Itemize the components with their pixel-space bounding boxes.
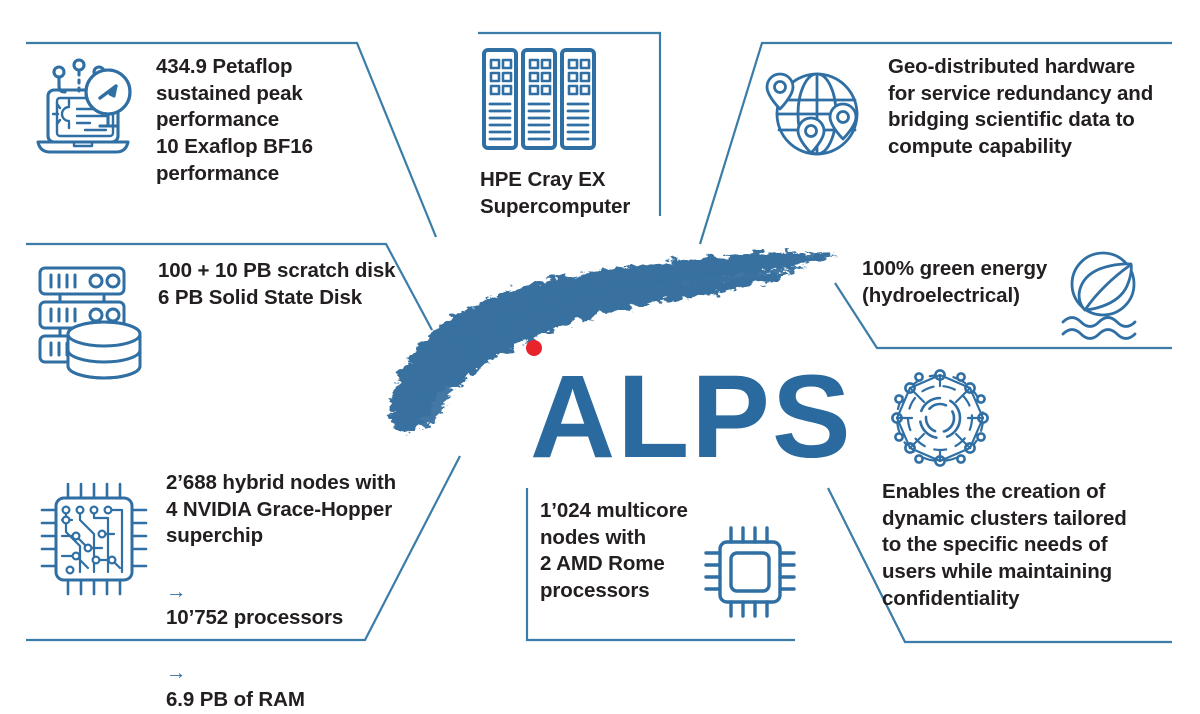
network-cluster-icon xyxy=(888,368,992,473)
green-energy-text: 100% green energy (hydroelectrical) xyxy=(862,256,1047,309)
hybrid-nodes-bullet-0-label: 10’752 processors xyxy=(166,606,343,629)
hybrid-nodes-bullet-1: → 6.9 PB of RAM xyxy=(166,634,396,714)
supercomputer-text: HPE Cray EX Supercomputer xyxy=(480,167,630,220)
laptop-performance-gauge-icon xyxy=(30,56,142,169)
circuit-chip-icon xyxy=(36,476,152,607)
arrow-icon: → xyxy=(166,661,186,684)
panel-supercomputer: HPE Cray EX Supercomputer xyxy=(470,30,660,220)
panel-hybrid-nodes: 2’688 hybrid nodes with 4 NVIDIA Grace-H… xyxy=(26,468,446,714)
geo-text: Geo-distributed hardware for service red… xyxy=(888,54,1153,161)
hybrid-nodes-text: 2’688 hybrid nodes with 4 NVIDIA Grace-H… xyxy=(166,470,396,550)
dynamic-clusters-text: Enables the creation of dynamic clusters… xyxy=(882,479,1127,612)
storage-text: 100 + 10 PB scratch disk 6 PB Solid Stat… xyxy=(158,258,395,311)
cpu-processor-icon xyxy=(698,520,802,629)
server-racks-icon xyxy=(480,44,598,159)
infographic-canvas: ALPS xyxy=(0,0,1200,683)
hybrid-nodes-bullet-1-label: 6.9 PB of RAM xyxy=(166,688,305,711)
alps-wordmark: ALPS xyxy=(530,358,853,476)
panel-performance: 434.9 Petaflop sustained peak performanc… xyxy=(26,46,386,187)
panel-multicore-nodes: 1’024 multicore nodes with 2 AMD Rome pr… xyxy=(540,494,840,629)
server-storage-disk-icon xyxy=(34,262,144,387)
centre-graphic: ALPS xyxy=(382,236,842,476)
leaf-water-icon xyxy=(1057,250,1147,347)
panel-dynamic-clusters: Enables the creation of dynamic clusters… xyxy=(880,366,1180,612)
performance-text: 434.9 Petaflop sustained peak performanc… xyxy=(156,54,313,187)
panel-geo: Geo-distributed hardware for service red… xyxy=(760,46,1180,173)
globe-location-pins-icon xyxy=(764,60,870,173)
multicore-nodes-text: 1’024 multicore nodes with 2 AMD Rome pr… xyxy=(540,498,688,605)
arrow-icon: → xyxy=(166,580,186,603)
hybrid-nodes-bullet-0: → 10’752 processors xyxy=(166,552,396,632)
panel-green-energy: 100% green energy (hydroelectrical) xyxy=(862,250,1182,347)
panel-storage: 100 + 10 PB scratch disk 6 PB Solid Stat… xyxy=(26,248,426,387)
